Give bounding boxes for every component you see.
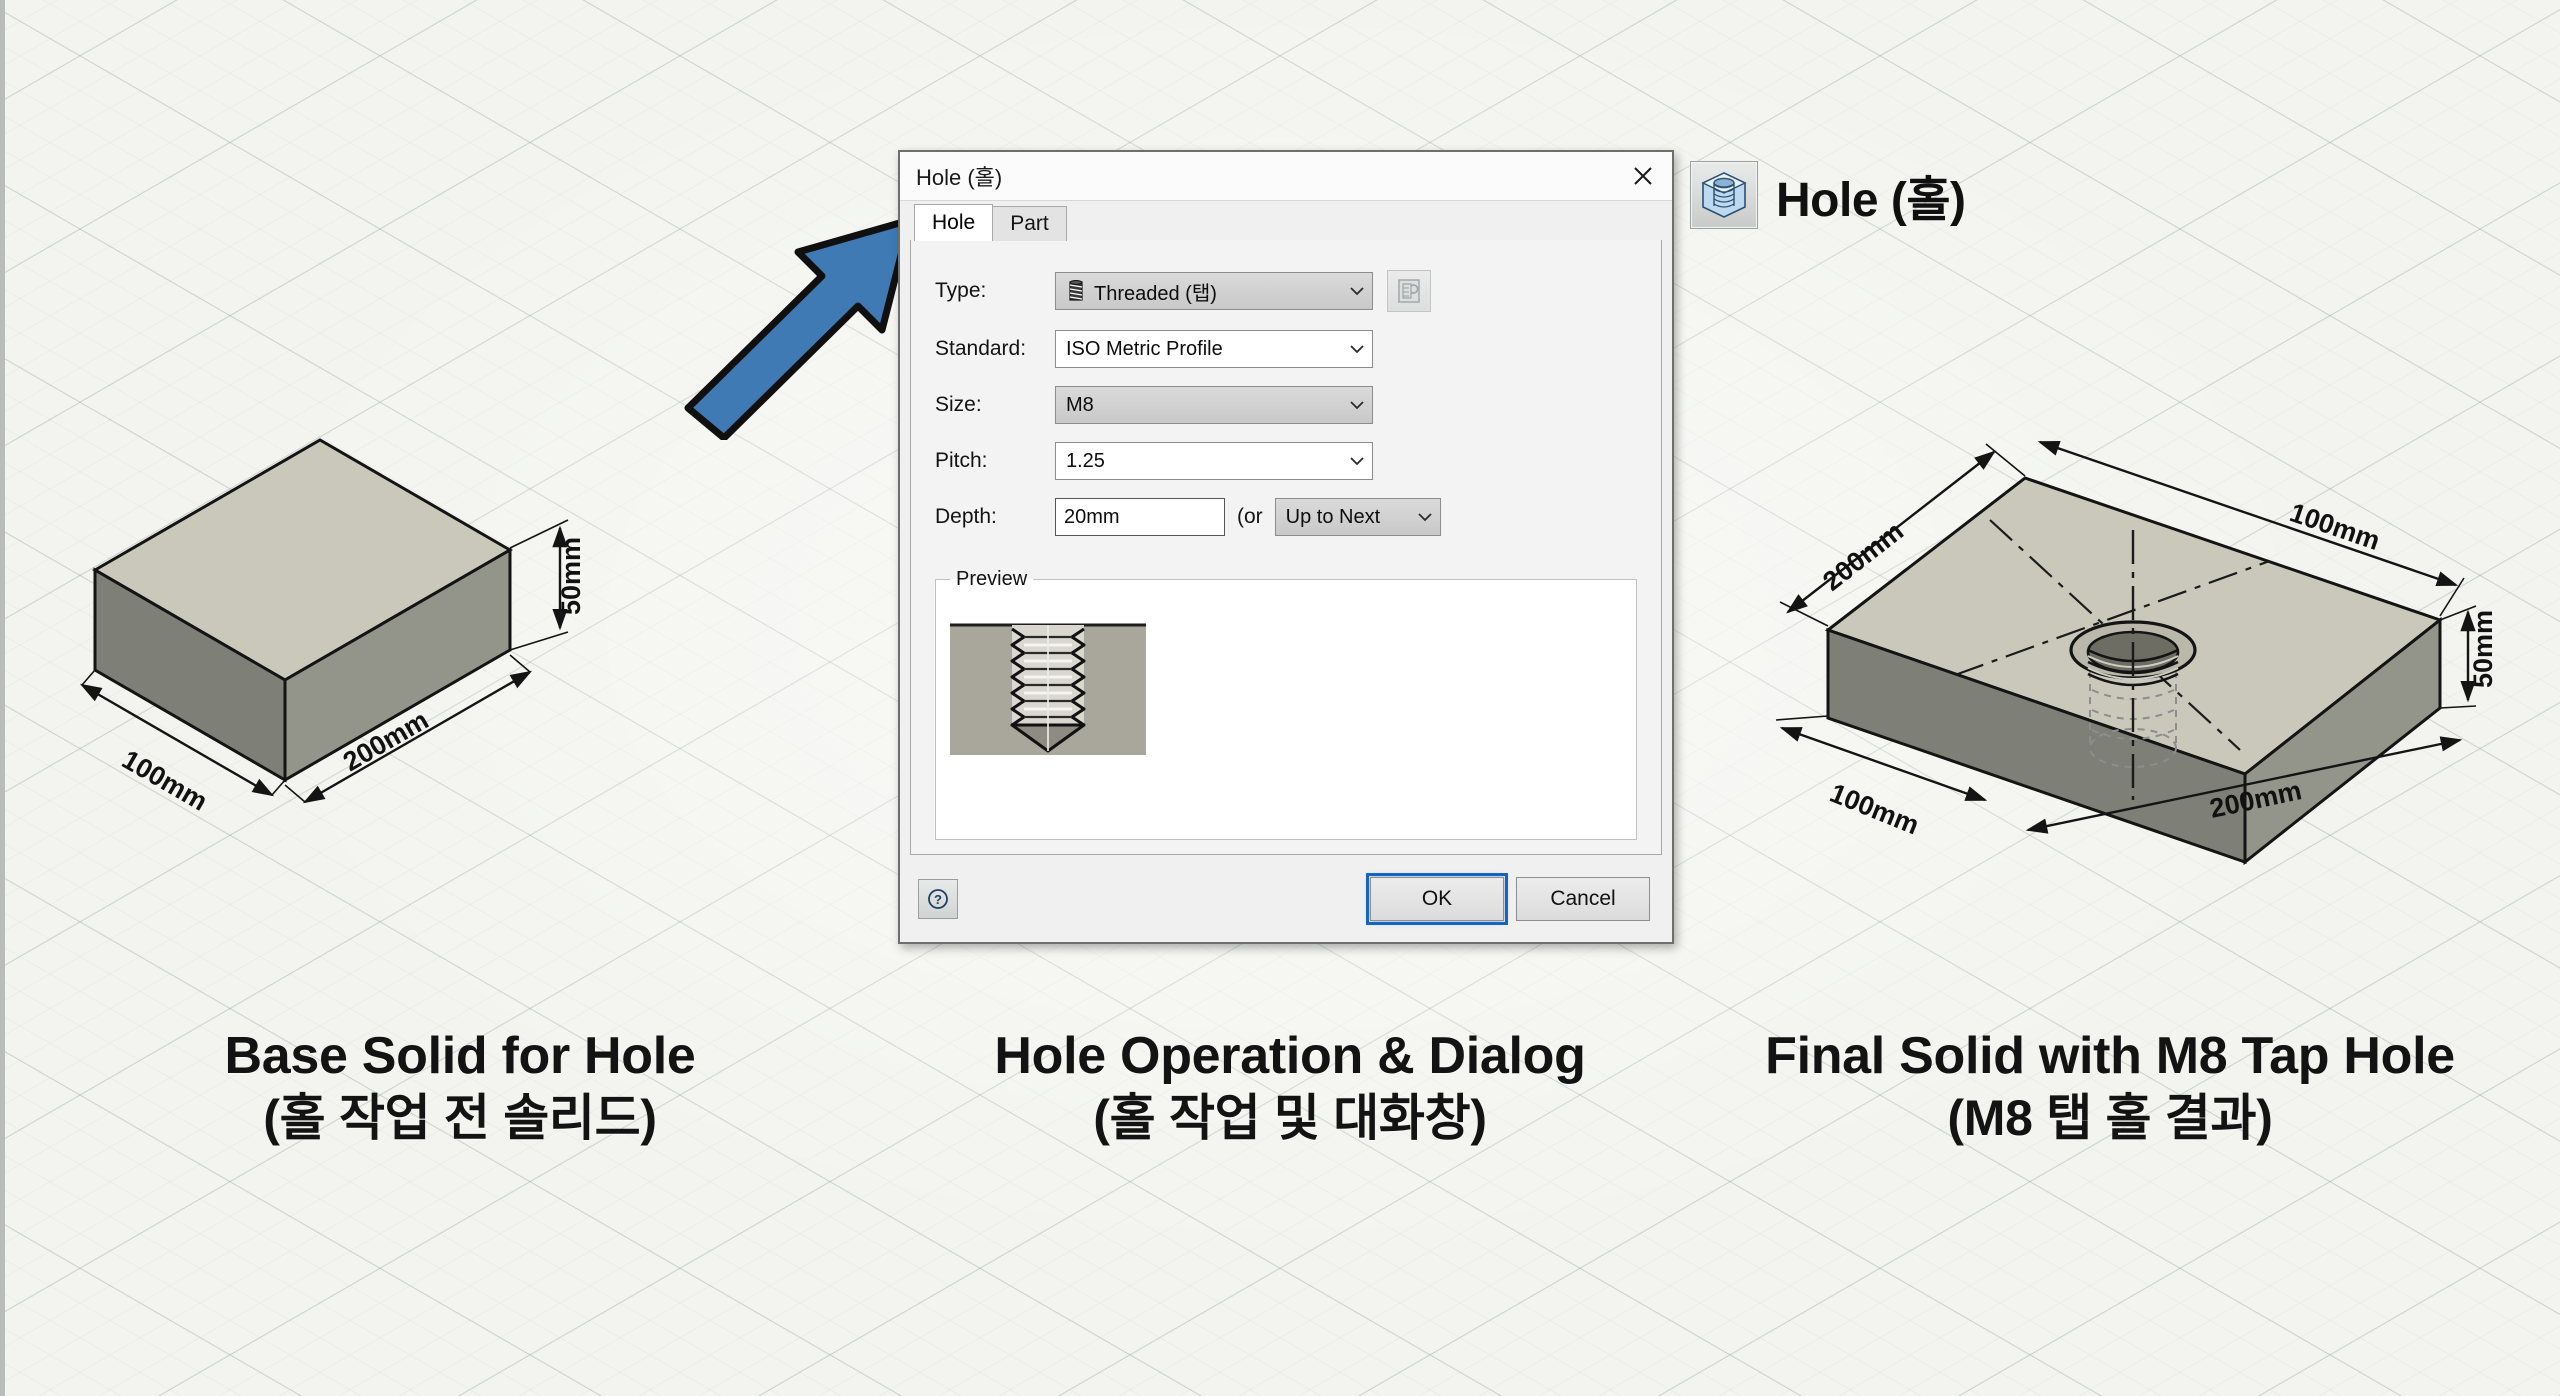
caption-right-line1: Final Solid with M8 Tap Hole <box>1690 1025 2530 1088</box>
field-row-standard: Standard: ISO Metric Profile <box>935 330 1637 368</box>
hole-legend-icon-box <box>1690 161 1758 229</box>
caption-center-line1: Hole Operation & Dialog <box>880 1025 1700 1088</box>
depth-label: Depth: <box>935 505 1055 529</box>
hole-legend: Hole (홀) <box>1690 160 1965 230</box>
screenshot-canvas: 100mm 200mm 50mm <box>0 0 2560 1396</box>
standard-select[interactable]: ISO Metric Profile <box>1055 330 1373 368</box>
cancel-button[interactable]: Cancel <box>1516 877 1650 921</box>
close-icon[interactable] <box>1626 159 1660 193</box>
standard-value: ISO Metric Profile <box>1066 338 1348 361</box>
tab-hole[interactable]: Hole <box>914 204 993 241</box>
dim-label-50mm: 50mm <box>2468 610 2498 688</box>
field-row-size: Size: M8 <box>935 386 1637 424</box>
field-row-depth: Depth: 20mm (or Up to Next <box>935 498 1637 536</box>
depth-mode-value: Up to Next <box>1286 506 1416 529</box>
hole-dialog[interactable]: Hole (홀) Hole Part Type: <box>898 150 1674 944</box>
svg-text:?: ? <box>934 892 942 907</box>
preview-group: Preview <box>935 568 1637 840</box>
dialog-tabstrip: Hole Part <box>900 201 1672 241</box>
caption-right: Final Solid with M8 Tap Hole (M8 탭 홀 결과) <box>1690 1025 2530 1149</box>
caption-left-line1: Base Solid for Hole <box>60 1025 860 1088</box>
tab-part[interactable]: Part <box>992 206 1067 241</box>
dim-label-100mm: 100mm <box>117 744 213 817</box>
help-button[interactable]: ? <box>918 879 958 919</box>
hole-catalog-button[interactable] <box>1387 270 1431 312</box>
close-glyph <box>1633 166 1653 186</box>
depth-mode-select[interactable]: Up to Next <box>1275 498 1441 536</box>
threaded-hole-icon <box>1066 279 1086 303</box>
chevron-down-icon <box>1348 452 1366 470</box>
depth-or-text: (or <box>1237 505 1263 529</box>
caption-center: Hole Operation & Dialog (홀 작업 및 대화창) <box>880 1025 1700 1149</box>
preview-legend: Preview <box>950 568 1033 591</box>
tapped-hole-section-thumbnail <box>950 603 1146 755</box>
hole-legend-label: Hole (홀) <box>1776 160 1965 230</box>
type-value: Threaded (탭) <box>1094 277 1348 306</box>
final-solid-illustration: 200mm 100mm 50mm 100mm 200mm <box>1740 330 2550 900</box>
pitch-select[interactable]: 1.25 <box>1055 442 1373 480</box>
chevron-down-icon <box>1348 282 1366 300</box>
caption-left: Base Solid for Hole (홀 작업 전 솔리드) <box>60 1025 860 1149</box>
standard-label: Standard: <box>935 337 1055 361</box>
type-select[interactable]: Threaded (탭) <box>1055 272 1373 310</box>
dim-label-bottom-100mm: 100mm <box>1826 778 1924 841</box>
dim-label-50mm: 50mm <box>556 537 586 615</box>
dialog-footer: ? OK Cancel <box>900 856 1672 942</box>
chevron-down-icon <box>1416 508 1434 526</box>
size-value: M8 <box>1066 394 1348 417</box>
dialog-titlebar: Hole (홀) <box>900 152 1672 201</box>
field-row-pitch: Pitch: 1.25 <box>935 442 1637 480</box>
dialog-title: Hole (홀) <box>916 160 1626 192</box>
caption-left-line2: (홀 작업 전 솔리드) <box>60 1088 860 1149</box>
caption-center-line2: (홀 작업 및 대화창) <box>880 1088 1700 1149</box>
size-label: Size: <box>935 393 1055 417</box>
threaded-hole-cube-icon <box>1699 170 1749 220</box>
hole-tab-panel: Type: Threaded (탭) <box>910 240 1662 855</box>
chevron-down-icon <box>1348 396 1366 414</box>
left-border-strip <box>0 0 5 1396</box>
type-label: Type: <box>935 279 1055 303</box>
caption-right-line2: (M8 탭 홀 결과) <box>1690 1088 2530 1149</box>
pitch-value: 1.25 <box>1066 450 1348 473</box>
pitch-label: Pitch: <box>935 449 1055 473</box>
hole-catalog-icon <box>1397 278 1421 304</box>
dim-label-top-100mm: 100mm <box>2286 497 2384 556</box>
ok-button[interactable]: OK <box>1370 877 1504 921</box>
size-select[interactable]: M8 <box>1055 386 1373 424</box>
chevron-down-icon <box>1348 340 1366 358</box>
help-question-icon: ? <box>927 888 949 910</box>
depth-input[interactable]: 20mm <box>1055 498 1225 536</box>
field-row-type: Type: Threaded (탭) <box>935 270 1637 312</box>
